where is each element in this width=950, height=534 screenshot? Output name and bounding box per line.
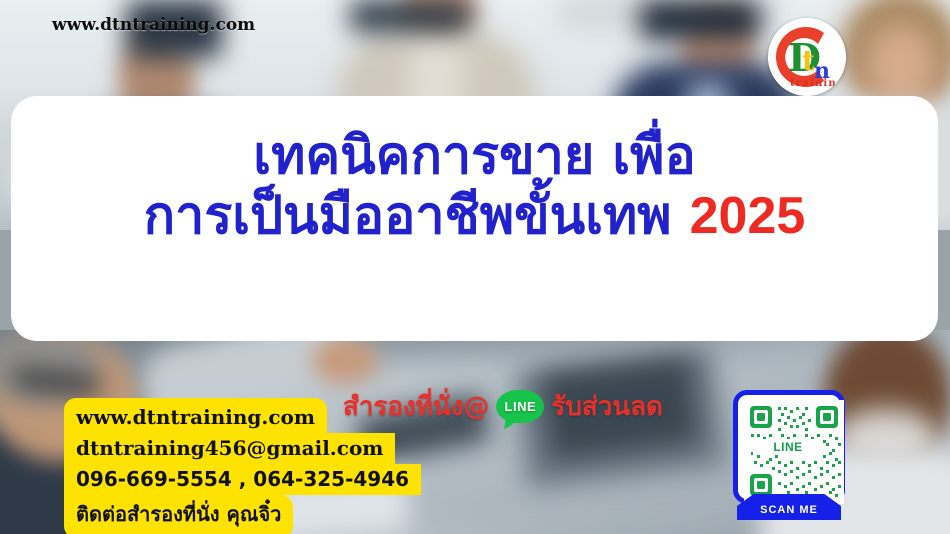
- headline-card: เทคนิคการขาย เพื่อ การเป็นมืออาชีพขั้นเท…: [11, 96, 938, 341]
- line-icon-label: LINE: [496, 390, 544, 423]
- photo-chair-3: [640, 0, 760, 40]
- headline-line-2: การเป็นมืออาชีพขั้นเทพ 2025: [11, 186, 938, 246]
- qr-center-label: LINE: [753, 439, 823, 455]
- dtn-training-logo: D t n training: [768, 18, 846, 96]
- logo-svg: D t n training: [768, 18, 846, 96]
- line-app-icon: LINE: [496, 390, 544, 423]
- headline-year: 2025: [690, 187, 806, 245]
- contact-reservation-note: ติดต่อสำรองที่นั่ง คุณจิ๋ว: [64, 495, 293, 534]
- headline-line-2-text: การเป็นมืออาชีพขั้นเทพ: [144, 186, 672, 246]
- headline: เทคนิคการขาย เพื่อ การเป็นมืออาชีพขั้นเท…: [11, 126, 938, 247]
- scan-me-label: SCAN ME: [760, 504, 818, 520]
- photo-hand: [312, 336, 378, 384]
- promotional-banner: www.dtntraining.com D t n training เทคนิ…: [0, 0, 950, 534]
- contact-phone[interactable]: 096-669-5554 , 064-325-4946: [64, 464, 421, 495]
- contact-block: www.dtntraining.com dtntraining456@gmail…: [64, 398, 421, 534]
- promo-suffix: รับส่วนลด: [551, 386, 663, 427]
- qr-frame: LINE: [733, 390, 845, 504]
- contact-email[interactable]: dtntraining456@gmail.com: [64, 433, 395, 464]
- site-url-watermark: www.dtntraining.com: [52, 15, 255, 35]
- headline-line-1: เทคนิคการขาย เพื่อ: [11, 126, 938, 186]
- scan-me-ribbon: SCAN ME: [737, 494, 841, 520]
- photo-chair-2: [350, 0, 470, 32]
- contact-website[interactable]: www.dtntraining.com: [64, 398, 327, 433]
- line-qr-block[interactable]: LINE SCAN ME: [733, 390, 845, 532]
